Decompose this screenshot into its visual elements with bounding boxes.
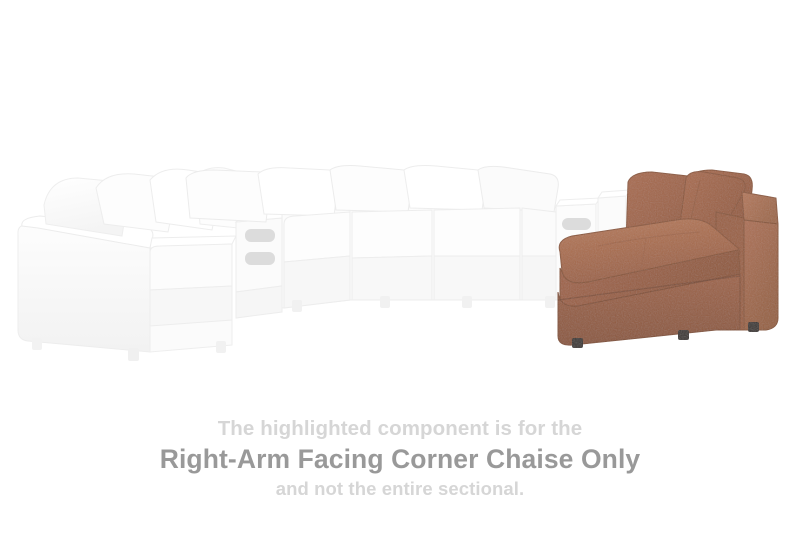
ghost-console-left xyxy=(236,212,288,318)
cupholder-slot-upper xyxy=(245,229,275,242)
product-image-canvas: Modular sectional sofa with the right-ar… xyxy=(0,0,800,533)
chaise-foot-front-right xyxy=(678,330,689,340)
chaise-arm-outer xyxy=(744,220,778,330)
caption-line-bottom: and not the entire sectional. xyxy=(0,476,800,502)
caption-line-top: The highlighted component is for the xyxy=(0,416,800,442)
chaise-foot-front-left xyxy=(572,338,583,348)
chaise-foot-back-right xyxy=(748,322,759,332)
chaise-arm-top xyxy=(742,192,778,224)
sofa-vector-art: Modular sectional sofa with the right-ar… xyxy=(0,0,800,400)
cupholder-slot-right-upper xyxy=(562,218,591,230)
caption-block: The highlighted component is for the Rig… xyxy=(0,416,800,502)
ghosted-sectional-group xyxy=(18,166,630,362)
caption-line-main: Right-Arm Facing Corner Chaise Only xyxy=(0,442,800,476)
cupholder-slot-lower xyxy=(245,252,275,265)
sectional-sofa-illustration: Modular sectional sofa with the right-ar… xyxy=(0,0,800,400)
highlighted-raf-corner-chaise xyxy=(558,169,778,348)
